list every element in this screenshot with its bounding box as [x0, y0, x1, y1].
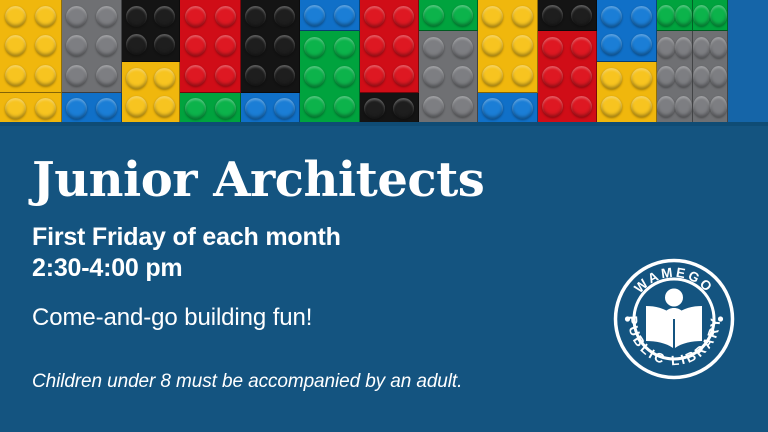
lego-stud-icon: [274, 65, 295, 86]
lego-stud-icon: [5, 6, 26, 27]
lego-stud-icon: [693, 66, 710, 87]
lego-stud-icon: [693, 96, 710, 117]
lego-stud-icon: [364, 35, 385, 56]
lego-column: [597, 0, 657, 124]
lego-brick-black: [241, 0, 300, 93]
lego-stud-icon: [215, 65, 236, 86]
lego-stud-icon: [274, 98, 295, 119]
lego-stud-icon: [215, 35, 236, 56]
lego-stud-row: [300, 5, 359, 26]
lego-column: [478, 0, 538, 124]
lego-stud-row: [538, 37, 596, 58]
lego-stud-icon: [482, 65, 503, 86]
lego-stud-icon: [710, 96, 727, 117]
lego-stud-icon: [126, 34, 147, 55]
lego-stud-row: [597, 34, 656, 55]
lego-stud-icon: [215, 98, 236, 119]
lego-column: [241, 0, 300, 124]
lego-stud-icon: [154, 68, 175, 89]
lego-column: [657, 0, 693, 124]
lego-stud-row: [180, 65, 240, 86]
lego-stud-icon: [542, 37, 563, 58]
lego-stud-icon: [185, 98, 206, 119]
page-title: Junior Architects: [32, 132, 652, 208]
schedule-line-1: First Friday of each month: [32, 222, 652, 253]
logo-book-right-page-icon: [675, 306, 702, 348]
lego-stud-icon: [657, 37, 675, 58]
lego-brick-green: [419, 0, 478, 31]
lego-stud-icon: [452, 37, 473, 58]
lego-column: [122, 0, 180, 124]
lego-stud-row: [419, 37, 477, 58]
lego-stud-icon: [693, 37, 710, 58]
lego-stud-icon: [675, 96, 693, 117]
lego-stud-row: [538, 96, 596, 117]
schedule-text: First Friday of each month 2:30-4:00 pm: [32, 208, 652, 284]
lego-stud-icon: [5, 65, 26, 86]
lego-stud-row: [0, 98, 61, 119]
lego-stud-icon: [304, 96, 325, 117]
lego-stud-icon: [631, 96, 652, 117]
lego-brick-green: [693, 0, 728, 31]
lego-brick-yellow: [0, 93, 62, 124]
lego-brick-yellow: [0, 0, 62, 93]
lego-stud-icon: [675, 37, 693, 58]
lego-brick-yellow: [122, 62, 180, 124]
lego-brick-blue: [597, 0, 657, 62]
lego-stud-icon: [601, 68, 622, 89]
lego-stud-row: [538, 66, 596, 87]
lego-stud-icon: [657, 66, 675, 87]
lego-stud-icon: [482, 98, 503, 119]
lego-stud-icon: [364, 98, 385, 119]
lego-stud-icon: [126, 68, 147, 89]
lego-brick-gray: [657, 31, 693, 124]
lego-column: [538, 0, 597, 124]
lego-brick-blue: [478, 93, 538, 124]
lego-stud-row: [0, 6, 61, 27]
lego-brick-black: [360, 93, 419, 124]
lego-column: [300, 0, 360, 124]
lego-brick-blue: [300, 0, 360, 31]
lego-stud-row: [657, 66, 692, 87]
lego-stud-row: [597, 96, 656, 117]
lego-stud-icon: [96, 65, 117, 86]
lego-stud-icon: [693, 5, 710, 26]
banner-shadow-strip: [0, 122, 768, 126]
lego-stud-row: [62, 65, 121, 86]
lego-stud-icon: [601, 34, 622, 55]
lego-stud-row: [538, 5, 596, 26]
lego-stud-icon: [571, 37, 592, 58]
lego-stud-icon: [35, 6, 56, 27]
lego-stud-row: [478, 6, 537, 27]
lego-stud-icon: [452, 96, 473, 117]
logo-book-left-page-icon: [646, 306, 673, 348]
lego-stud-icon: [512, 65, 533, 86]
lego-stud-icon: [423, 96, 444, 117]
lego-stud-icon: [154, 34, 175, 55]
lego-stud-icon: [364, 6, 385, 27]
lego-stud-icon: [423, 66, 444, 87]
lego-stud-icon: [364, 65, 385, 86]
disclaimer-text: Children under 8 must be accompanied by …: [32, 333, 652, 394]
lego-stud-icon: [631, 34, 652, 55]
lego-stud-icon: [126, 96, 147, 117]
lego-stud-row: [419, 5, 477, 26]
lego-stud-icon: [542, 66, 563, 87]
lego-brick-green: [300, 31, 360, 124]
lego-stud-row: [241, 35, 299, 56]
lego-stud-icon: [245, 65, 266, 86]
lego-brick-gray: [693, 31, 728, 124]
lego-stud-icon: [274, 6, 295, 27]
lego-stud-icon: [304, 66, 325, 87]
lego-brick-green: [657, 0, 693, 31]
lego-brick-green: [180, 93, 241, 124]
lego-column: [62, 0, 122, 124]
lego-stud-row: [360, 98, 418, 119]
lego-stud-row: [360, 35, 418, 56]
lego-stud-row: [419, 66, 477, 87]
lego-stud-row: [62, 35, 121, 56]
lego-column: [693, 0, 728, 124]
lego-stud-icon: [675, 66, 693, 87]
lego-stud-row: [693, 66, 727, 87]
lego-stud-row: [241, 6, 299, 27]
lego-stud-icon: [154, 96, 175, 117]
lego-stud-icon: [393, 98, 414, 119]
lego-stud-icon: [5, 35, 26, 56]
lego-stud-row: [180, 6, 240, 27]
schedule-line-2: 2:30-4:00 pm: [32, 253, 652, 284]
lego-stud-icon: [66, 6, 87, 27]
lego-brick-blue: [62, 93, 122, 124]
lego-stud-icon: [334, 96, 355, 117]
lego-stud-icon: [334, 37, 355, 58]
lego-stud-row: [241, 65, 299, 86]
lego-brick-gray: [62, 0, 122, 93]
lego-stud-icon: [185, 6, 206, 27]
lego-stud-icon: [423, 5, 444, 26]
lego-brick-yellow: [478, 0, 538, 93]
lego-stud-row: [0, 65, 61, 86]
lego-stud-icon: [542, 5, 563, 26]
lego-stud-icon: [66, 98, 87, 119]
lego-stud-row: [122, 6, 179, 27]
lego-stud-icon: [710, 5, 727, 26]
logo-separator-dot-right: [718, 316, 723, 321]
lego-stud-icon: [512, 6, 533, 27]
lego-stud-row: [300, 96, 359, 117]
lego-stud-icon: [334, 5, 355, 26]
lego-stud-icon: [393, 65, 414, 86]
lego-stud-row: [597, 6, 656, 27]
lego-stud-icon: [393, 6, 414, 27]
poster-text-block: Junior Architects First Friday of each m…: [32, 132, 652, 394]
lego-stud-row: [478, 65, 537, 86]
lego-stud-row: [693, 96, 727, 117]
lego-stud-icon: [657, 96, 675, 117]
lego-column: [360, 0, 419, 124]
logo-reader-head-icon: [665, 289, 683, 307]
lego-stud-row: [180, 35, 240, 56]
lego-stud-row: [597, 68, 656, 89]
lego-stud-row: [657, 5, 692, 26]
lego-brick-red: [538, 31, 597, 124]
lego-column: [0, 0, 62, 124]
lego-stud-icon: [675, 5, 693, 26]
lego-stud-row: [62, 98, 121, 119]
event-poster: Junior Architects First Friday of each m…: [0, 0, 768, 432]
lego-stud-icon: [571, 66, 592, 87]
wamego-public-library-logo: WAMEGO PUBLIC LIBRARY: [613, 258, 735, 380]
lego-stud-row: [419, 96, 477, 117]
lego-stud-icon: [5, 98, 26, 119]
lego-stud-icon: [393, 35, 414, 56]
lego-stud-icon: [571, 96, 592, 117]
lego-stud-icon: [96, 35, 117, 56]
lego-stud-icon: [657, 5, 675, 26]
lego-stud-icon: [631, 6, 652, 27]
lego-stud-icon: [452, 66, 473, 87]
lego-stud-row: [122, 96, 179, 117]
lego-brick-blue: [241, 93, 300, 124]
lego-brick-red: [180, 0, 241, 93]
lego-brick-black: [538, 0, 597, 31]
lego-stud-icon: [35, 35, 56, 56]
lego-brick-black: [122, 0, 180, 62]
lego-stud-icon: [542, 96, 563, 117]
lego-stud-row: [478, 98, 537, 119]
lego-stud-icon: [66, 65, 87, 86]
lego-stud-icon: [601, 96, 622, 117]
lego-stud-icon: [571, 5, 592, 26]
lego-stud-icon: [66, 35, 87, 56]
lego-stud-icon: [274, 35, 295, 56]
lego-stud-icon: [245, 35, 266, 56]
lego-stud-row: [180, 98, 240, 119]
lego-stud-icon: [512, 35, 533, 56]
lego-stud-row: [478, 35, 537, 56]
lego-stud-icon: [215, 6, 236, 27]
lego-stud-icon: [154, 6, 175, 27]
lego-stud-icon: [96, 98, 117, 119]
lego-stud-icon: [35, 98, 56, 119]
lego-brick-banner: [0, 0, 768, 124]
lego-stud-icon: [482, 35, 503, 56]
lego-stud-icon: [96, 6, 117, 27]
lego-stud-icon: [710, 37, 727, 58]
tagline-text: Come-and-go building fun!: [32, 284, 652, 333]
lego-stud-icon: [482, 6, 503, 27]
lego-stud-icon: [245, 98, 266, 119]
lego-stud-icon: [35, 65, 56, 86]
lego-stud-row: [360, 6, 418, 27]
lego-stud-icon: [601, 6, 622, 27]
lego-stud-icon: [185, 65, 206, 86]
logo-ring-text-bottom: PUBLIC LIBRARY: [625, 315, 724, 368]
lego-stud-icon: [631, 68, 652, 89]
lego-stud-icon: [126, 6, 147, 27]
lego-stud-row: [360, 65, 418, 86]
lego-stud-icon: [452, 5, 473, 26]
lego-stud-icon: [423, 37, 444, 58]
lego-stud-row: [657, 37, 692, 58]
lego-stud-row: [0, 35, 61, 56]
lego-brick-yellow: [597, 62, 657, 124]
lego-stud-row: [300, 66, 359, 87]
lego-stud-row: [122, 68, 179, 89]
lego-column: [419, 0, 478, 124]
logo-separator-dot-left: [625, 316, 630, 321]
lego-stud-row: [693, 37, 727, 58]
lego-stud-row: [122, 34, 179, 55]
lego-brick-gray: [419, 31, 478, 124]
lego-stud-icon: [304, 5, 325, 26]
lego-stud-icon: [185, 35, 206, 56]
lego-stud-row: [241, 98, 299, 119]
lego-stud-icon: [245, 6, 266, 27]
lego-stud-icon: [334, 66, 355, 87]
lego-stud-icon: [710, 66, 727, 87]
lego-stud-icon: [304, 37, 325, 58]
lego-stud-row: [300, 37, 359, 58]
lego-stud-row: [62, 6, 121, 27]
lego-stud-icon: [512, 98, 533, 119]
lego-column: [180, 0, 241, 124]
lego-stud-row: [693, 5, 727, 26]
lego-brick-red: [360, 0, 419, 93]
lego-stud-row: [657, 96, 692, 117]
